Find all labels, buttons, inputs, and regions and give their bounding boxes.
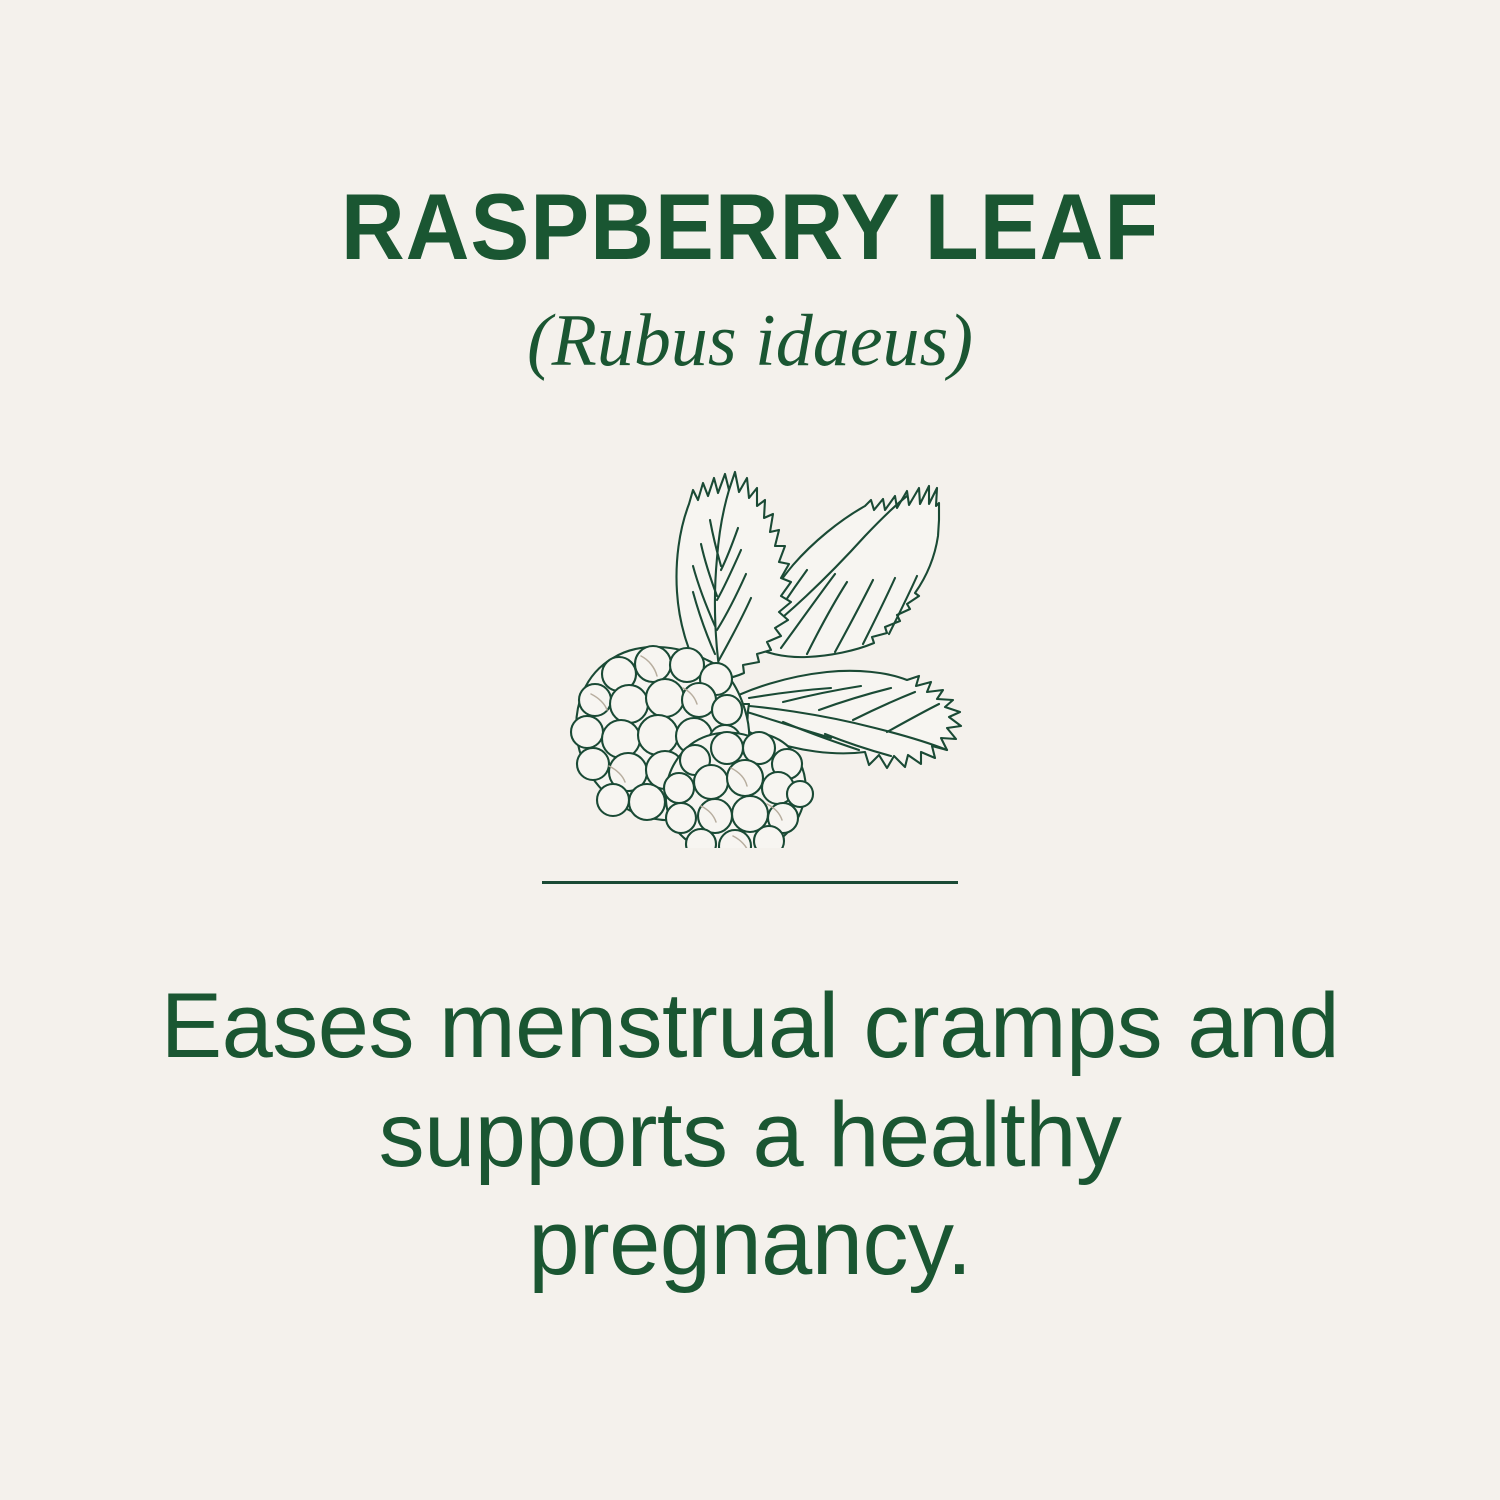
- section-divider: [542, 881, 958, 884]
- raspberry-line-art-svg: [535, 448, 965, 848]
- page-title: RASPBERRY LEAF: [45, 180, 1455, 274]
- header-block: RASPBERRY LEAF (Rubus idaeus): [0, 180, 1500, 378]
- herb-info-card: RASPBERRY LEAF (Rubus idaeus): [0, 0, 1500, 1500]
- benefit-block: Eases menstrual cramps and supports a he…: [150, 972, 1350, 1298]
- berry-right: [664, 732, 813, 848]
- benefit-description: Eases menstrual cramps and supports a he…: [150, 972, 1350, 1298]
- raspberry-illustration: [535, 448, 965, 848]
- latin-name-subtitle: (Rubus idaeus): [0, 274, 1500, 378]
